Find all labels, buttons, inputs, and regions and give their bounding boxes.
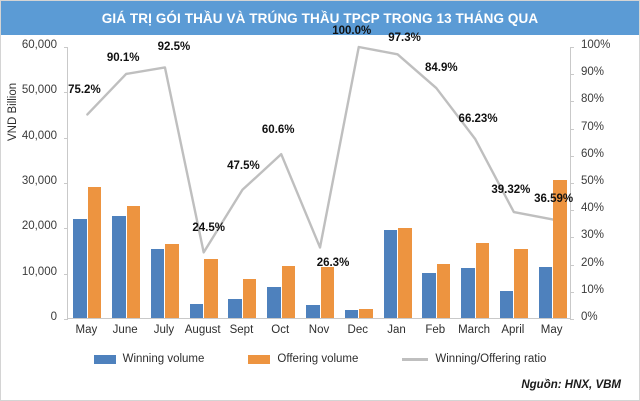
- bar-winning-volume[interactable]: [267, 287, 281, 318]
- y-axis-tick: [64, 274, 68, 275]
- y2-axis-tick: [570, 129, 574, 130]
- bar-offering-volume[interactable]: [437, 264, 451, 318]
- y-axis-tick-label: 30,000: [1, 175, 57, 187]
- source-note: Nguồn: HNX, VBM: [521, 379, 621, 391]
- bar-winning-volume[interactable]: [151, 249, 165, 318]
- y2-axis-tick-label: 40%: [581, 202, 604, 214]
- y-axis-tick: [64, 319, 68, 320]
- y-axis-tick-label: 20,000: [1, 220, 57, 232]
- bar-offering-volume[interactable]: [243, 279, 257, 318]
- bar-winning-volume[interactable]: [500, 291, 514, 318]
- y2-axis-tick: [570, 210, 574, 211]
- y-axis-tick-label: 60,000: [1, 39, 57, 51]
- y2-axis-tick-label: 30%: [581, 229, 604, 241]
- ratio-data-label: 75.2%: [54, 84, 114, 96]
- y2-axis-tick-label: 50%: [581, 175, 604, 187]
- y2-axis-tick: [570, 101, 574, 102]
- y-axis-tick: [64, 138, 68, 139]
- x-axis-tick-label: May: [526, 324, 577, 336]
- bar-offering-volume[interactable]: [127, 206, 141, 318]
- bar-winning-volume[interactable]: [384, 230, 398, 318]
- chart-card: GIÁ TRỊ GÓI THẦU VÀ TRÚNG THẦU TPCP TRON…: [0, 0, 640, 401]
- legend-item-winning-volume[interactable]: Winning volume: [94, 353, 205, 365]
- ratio-data-label: 60.6%: [248, 124, 308, 136]
- y2-axis-tick: [570, 74, 574, 75]
- y-axis-tick-label: 0: [1, 311, 57, 323]
- y2-axis-tick-label: 100%: [581, 39, 610, 51]
- bar-winning-volume[interactable]: [112, 216, 126, 318]
- ratio-data-label: 97.3%: [375, 32, 435, 44]
- y2-axis-tick: [570, 183, 574, 184]
- bar-offering-volume[interactable]: [398, 228, 412, 318]
- bar-offering-volume[interactable]: [282, 266, 296, 318]
- y2-axis-tick: [570, 156, 574, 157]
- y2-axis-tick: [570, 47, 574, 48]
- legend-line-icon: [402, 358, 428, 361]
- chart-title-bar: GIÁ TRỊ GÓI THẦU VÀ TRÚNG THẦU TPCP TRON…: [1, 1, 639, 35]
- ratio-data-label: 90.1%: [93, 52, 153, 64]
- bar-winning-volume[interactable]: [190, 304, 204, 318]
- bar-offering-volume[interactable]: [321, 267, 335, 318]
- y2-axis-tick: [570, 237, 574, 238]
- legend-item-winning-offering-ratio[interactable]: Winning/Offering ratio: [402, 353, 546, 365]
- y2-axis-tick: [570, 265, 574, 266]
- plot-area: [67, 47, 571, 319]
- legend-label: Winning/Offering ratio: [435, 353, 546, 365]
- y2-axis-tick-label: 80%: [581, 93, 604, 105]
- bar-winning-volume[interactable]: [228, 299, 242, 318]
- bar-winning-volume[interactable]: [539, 267, 553, 318]
- y2-axis-tick: [570, 292, 574, 293]
- y2-axis-tick-label: 10%: [581, 284, 604, 296]
- bar-offering-volume[interactable]: [165, 244, 179, 318]
- bar-offering-volume[interactable]: [359, 309, 373, 318]
- legend-label: Winning volume: [123, 353, 205, 365]
- ratio-data-label: 24.5%: [179, 222, 239, 234]
- bar-offering-volume[interactable]: [88, 187, 102, 318]
- legend-item-offering-volume[interactable]: Offering volume: [248, 353, 358, 365]
- legend-label: Offering volume: [277, 353, 358, 365]
- bar-offering-volume[interactable]: [476, 243, 490, 318]
- y-axis-tick-label: 50,000: [1, 84, 57, 96]
- bar-winning-volume[interactable]: [73, 219, 87, 318]
- y-axis-tick-label: 10,000: [1, 266, 57, 278]
- bar-winning-volume[interactable]: [306, 305, 320, 318]
- ratio-data-label: 26.3%: [303, 257, 363, 269]
- ratio-data-label: 36.59%: [524, 193, 584, 205]
- y2-axis-tick-label: 20%: [581, 257, 604, 269]
- y-axis-tick: [64, 183, 68, 184]
- y-axis-tick: [64, 47, 68, 48]
- y2-axis-tick-label: 70%: [581, 121, 604, 133]
- y-axis-tick-label: 40,000: [1, 130, 57, 142]
- ratio-data-label: 92.5%: [144, 41, 204, 53]
- page-title: GIÁ TRỊ GÓI THẦU VÀ TRÚNG THẦU TPCP TRON…: [102, 11, 538, 26]
- ratio-data-label: 47.5%: [213, 160, 273, 172]
- y2-axis-tick-label: 0%: [581, 311, 598, 323]
- bar-offering-volume[interactable]: [204, 259, 218, 318]
- y-axis-tick: [64, 228, 68, 229]
- bar-winning-volume[interactable]: [345, 310, 359, 318]
- ratio-data-label: 100.0%: [322, 25, 382, 37]
- y2-axis-tick: [570, 319, 574, 320]
- bar-winning-volume[interactable]: [461, 268, 475, 318]
- ratio-data-label: 84.9%: [411, 62, 471, 74]
- bar-offering-volume[interactable]: [514, 249, 528, 318]
- legend-swatch-icon: [248, 355, 270, 364]
- bar-winning-volume[interactable]: [422, 273, 436, 318]
- y2-axis-tick-label: 60%: [581, 148, 604, 160]
- ratio-data-label: 66.23%: [448, 113, 508, 125]
- legend-swatch-icon: [94, 355, 116, 364]
- chart-legend: Winning volume Offering volume Winning/O…: [1, 353, 639, 365]
- y2-axis-tick-label: 90%: [581, 66, 604, 78]
